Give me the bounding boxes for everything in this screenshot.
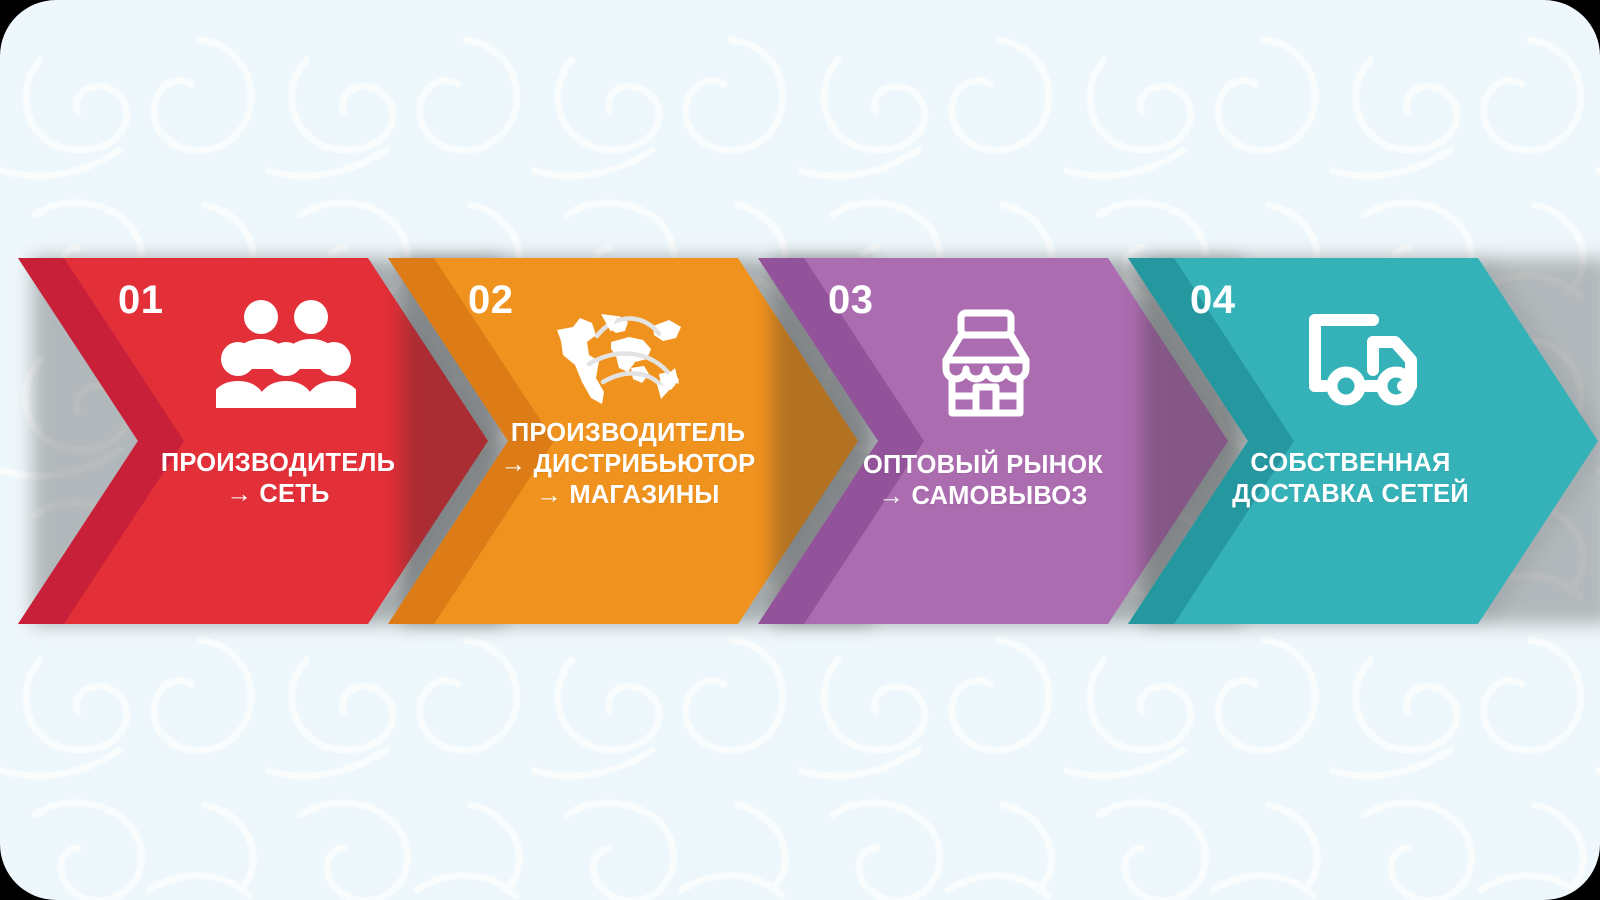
step-4-content: 04 СОБСТВЕННАЯ ДО	[1128, 258, 1598, 624]
people-group-icon	[216, 298, 356, 408]
step-3-number: 03	[828, 280, 874, 320]
step-2-label: ПРОИЗВОДИТЕЛЬ → ДИСТРИБЬЮТОР → МАГАЗИНЫ	[468, 418, 788, 511]
step-2-number: 02	[468, 280, 514, 320]
delivery-truck-icon	[1303, 308, 1428, 408]
infographic-canvas: 01 ПРОИЗВОДИТ	[0, 0, 1600, 900]
process-flow: 01 ПРОИЗВОДИТ	[0, 258, 1600, 624]
step-4-label: СОБСТВЕННАЯ ДОСТАВКА СЕТЕЙ	[1178, 448, 1523, 510]
storefront-icon	[933, 308, 1038, 418]
step-1-label: ПРОИЗВОДИТЕЛЬ → СЕТЬ	[128, 448, 428, 510]
world-map-distribution-icon	[553, 306, 683, 406]
step-3-label: ОПТОВЫЙ РЫНОК → САМОВЫВОЗ	[818, 450, 1148, 512]
step-4-number: 04	[1190, 280, 1236, 320]
step-1-number: 01	[118, 280, 164, 320]
flow-step-4[interactable]: 04 СОБСТВЕННАЯ ДО	[1128, 258, 1598, 624]
